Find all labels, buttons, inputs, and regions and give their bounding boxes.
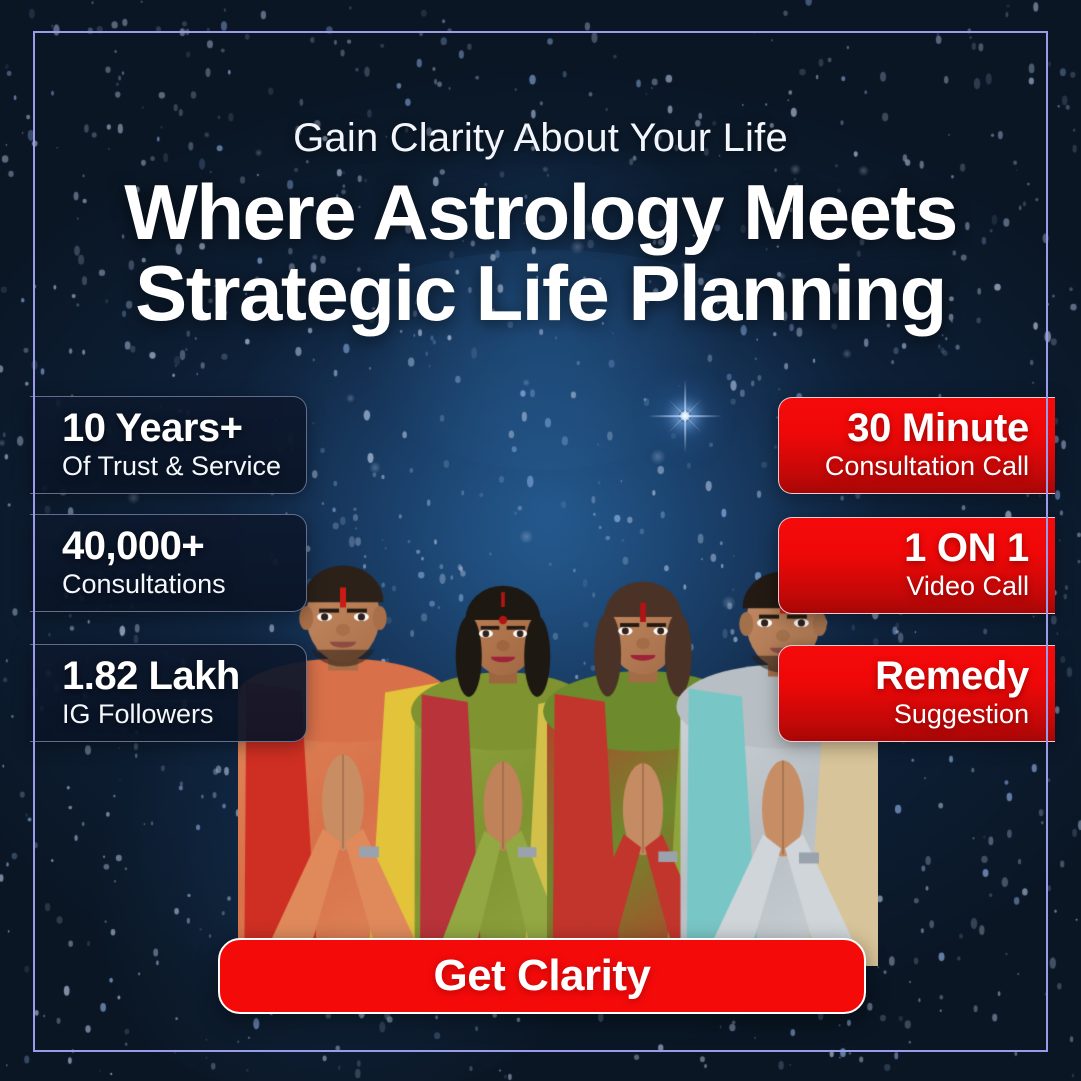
stat-number: 1.82 Lakh: [62, 655, 284, 698]
feature-number: Remedy: [809, 655, 1029, 698]
poster-canvas: Gain Clarity About Your Life Where Astro…: [0, 0, 1081, 1081]
feature-badge-video-call: 1 ON 1 Video Call: [778, 517, 1055, 614]
stat-label: Consultations: [62, 569, 284, 599]
feature-label: Suggestion: [809, 699, 1029, 729]
cta-label: Get Clarity: [433, 951, 650, 1001]
stat-badge-years: 10 Years+ Of Trust & Service: [30, 396, 307, 494]
headline-line-2: Strategic Life Planning: [0, 253, 1081, 334]
stat-label: IG Followers: [62, 699, 284, 729]
stat-number: 10 Years+: [62, 407, 284, 450]
stat-badge-followers: 1.82 Lakh IG Followers: [30, 644, 307, 742]
headline-line-1: Where Astrology Meets: [0, 172, 1081, 253]
feature-label: Consultation Call: [809, 451, 1029, 481]
stat-badge-consultations: 40,000+ Consultations: [30, 514, 307, 612]
feature-badge-remedy-suggestion: Remedy Suggestion: [778, 645, 1055, 742]
stat-number: 40,000+: [62, 525, 284, 568]
bright-star-flare-icon: [666, 397, 704, 435]
headline-block: Gain Clarity About Your Life Where Astro…: [0, 118, 1081, 334]
get-clarity-button[interactable]: Get Clarity: [218, 938, 866, 1014]
stat-label: Of Trust & Service: [62, 451, 284, 481]
feature-label: Video Call: [809, 571, 1029, 601]
feature-badge-consultation-call: 30 Minute Consultation Call: [778, 397, 1055, 494]
feature-number: 30 Minute: [809, 407, 1029, 450]
eyebrow-text: Gain Clarity About Your Life: [0, 118, 1081, 158]
feature-number: 1 ON 1: [809, 527, 1029, 570]
